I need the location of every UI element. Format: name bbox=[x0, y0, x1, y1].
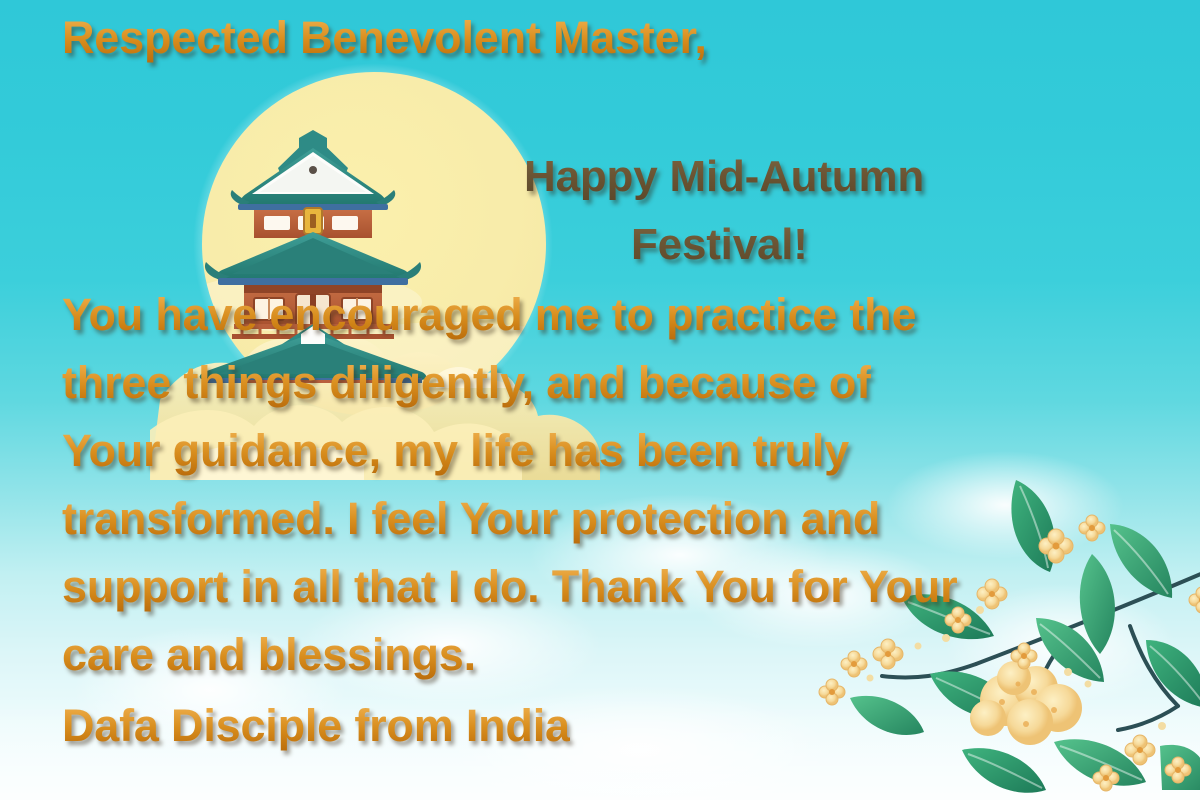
message-line: care and blessings. bbox=[62, 629, 476, 681]
message-text-layer: Respected Benevolent Master, Happy Mid-A… bbox=[0, 0, 1200, 800]
message-line: three things diligently, and because of bbox=[62, 357, 871, 409]
message-line: Your guidance, my life has been truly bbox=[62, 425, 849, 477]
greeting-card: Respected Benevolent Master, Happy Mid-A… bbox=[0, 0, 1200, 800]
message-line: You have encouraged me to practice the bbox=[62, 289, 916, 341]
signature-text: Dafa Disciple from India bbox=[62, 700, 570, 752]
message-line: transformed. I feel Your protection and bbox=[62, 493, 880, 545]
festival-greeting-line-2: Festival! bbox=[631, 220, 808, 270]
festival-greeting-line-1: Happy Mid-Autumn bbox=[524, 152, 924, 202]
salutation-text: Respected Benevolent Master, bbox=[62, 12, 707, 64]
message-line: support in all that I do. Thank You for … bbox=[62, 561, 957, 613]
